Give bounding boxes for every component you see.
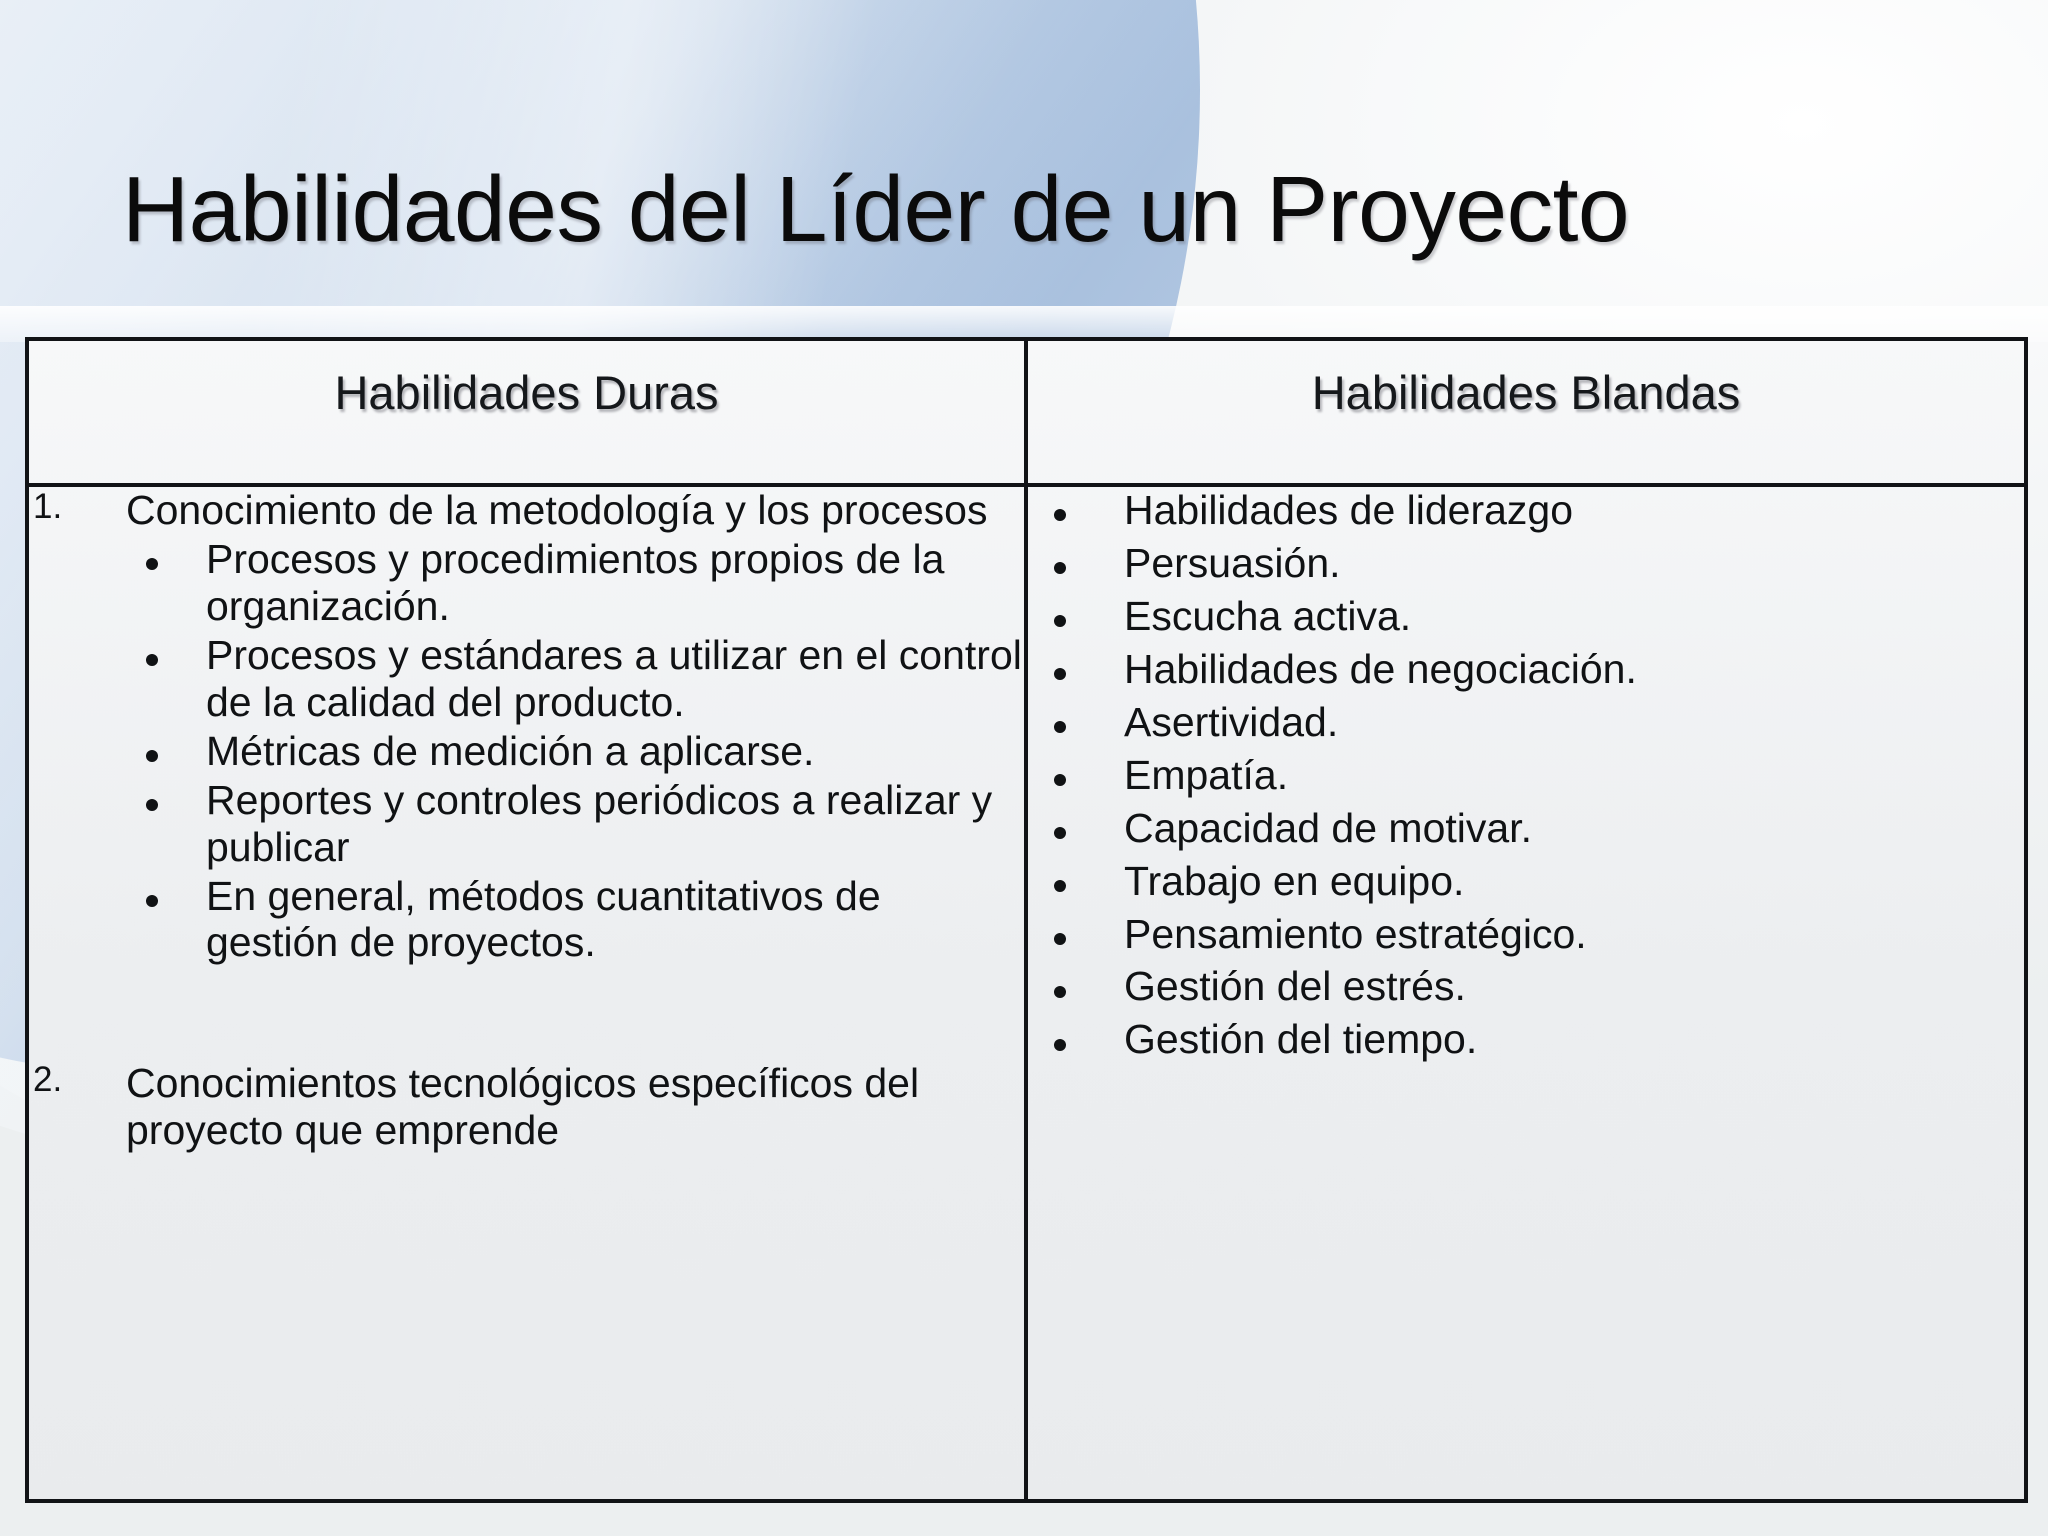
list-number: 2. <box>33 1060 103 1100</box>
list-item-label: Persuasión. <box>1124 540 1341 586</box>
list-spacer <box>29 966 1024 1060</box>
list-item: 2. Conocimientos tecnológicos específico… <box>29 1060 1024 1154</box>
list-item: Capacidad de motivar. <box>1040 805 2024 852</box>
list-item-label: Gestión del estrés. <box>1124 963 1466 1009</box>
list-item: 1. Conocimiento de la metodología y los … <box>29 487 1024 966</box>
header-cell-hard-skills: Habilidades Duras <box>27 339 1026 485</box>
list-number: 1. <box>33 487 103 527</box>
cell-soft-skills: Habilidades de liderazgo Persuasión. Esc… <box>1026 485 2026 1501</box>
list-item: En general, métodos cuantitativos de ges… <box>126 873 1024 967</box>
bullet-icon <box>146 654 158 666</box>
header-label-soft-skills: Habilidades Blandas <box>1028 341 2024 420</box>
cell-hard-skills: 1. Conocimiento de la metodología y los … <box>27 485 1026 1501</box>
bullet-icon <box>1054 827 1066 839</box>
list-item-label: Habilidades de liderazgo <box>1124 487 1573 533</box>
table-header-row: Habilidades Duras Habilidades Blandas <box>27 339 2026 485</box>
hard-skills-sublist: Procesos y procedimientos propios de la … <box>126 536 1024 966</box>
bullet-icon <box>1054 774 1066 786</box>
list-item-label: Habilidades de negociación. <box>1124 646 1637 692</box>
list-item: Habilidades de negociación. <box>1040 646 2024 693</box>
list-item: Procesos y procedimientos propios de la … <box>126 536 1024 630</box>
bullet-icon <box>1054 509 1066 521</box>
table-body-row: 1. Conocimiento de la metodología y los … <box>27 485 2026 1501</box>
list-item: Persuasión. <box>1040 540 2024 587</box>
list-item: Reportes y controles periódicos a realiz… <box>126 777 1024 871</box>
hard-skills-list: 1. Conocimiento de la metodología y los … <box>29 487 1024 1154</box>
list-item: Trabajo en equipo. <box>1040 858 2024 905</box>
list-item: Habilidades de liderazgo <box>1040 487 2024 534</box>
bullet-icon <box>1054 986 1066 998</box>
bullet-icon <box>1054 1039 1066 1051</box>
list-item: Gestión del tiempo. <box>1040 1016 2024 1063</box>
list-item-label: En general, métodos cuantitativos de ges… <box>206 873 881 966</box>
list-item-label: Métricas de medición a aplicarse. <box>206 728 814 774</box>
bullet-icon <box>1054 668 1066 680</box>
bullet-icon <box>1054 721 1066 733</box>
list-item-label: Asertividad. <box>1124 699 1338 745</box>
bullet-icon <box>146 558 158 570</box>
list-item-label: Capacidad de motivar. <box>1124 805 1532 851</box>
list-item: Métricas de medición a aplicarse. <box>126 728 1024 775</box>
page-title: Habilidades del Líder de un Proyecto <box>122 159 1922 259</box>
list-item-label: Pensamiento estratégico. <box>1124 911 1587 957</box>
list-item-label: Gestión del tiempo. <box>1124 1016 1477 1062</box>
list-item-label: Empatía. <box>1124 752 1288 798</box>
list-item-label: Conocimiento de la metodología y los pro… <box>126 487 987 533</box>
list-item-label: Escucha activa. <box>1124 593 1411 639</box>
bullet-icon <box>146 799 158 811</box>
list-item: Pensamiento estratégico. <box>1040 911 2024 958</box>
bullet-icon <box>1054 562 1066 574</box>
list-item: Asertividad. <box>1040 699 2024 746</box>
skills-table: Habilidades Duras Habilidades Blandas 1.… <box>25 337 2028 1503</box>
slide: Habilidades del Líder de un Proyecto Hab… <box>0 0 2048 1536</box>
list-item-label: Procesos y estándares a utilizar en el c… <box>206 632 1022 725</box>
list-item: Procesos y estándares a utilizar en el c… <box>126 632 1024 726</box>
bullet-icon <box>1054 615 1066 627</box>
bullet-icon <box>146 750 158 762</box>
list-item: Gestión del estrés. <box>1040 963 2024 1010</box>
bullet-icon <box>146 895 158 907</box>
list-item-label: Conocimientos tecnológicos específicos d… <box>126 1060 919 1153</box>
list-item-label: Procesos y procedimientos propios de la … <box>206 536 944 629</box>
bullet-icon <box>1054 933 1066 945</box>
list-item-label: Reportes y controles periódicos a realiz… <box>206 777 992 870</box>
header-label-hard-skills: Habilidades Duras <box>29 341 1024 420</box>
soft-skills-list: Habilidades de liderazgo Persuasión. Esc… <box>1028 487 2024 1063</box>
list-item-label: Trabajo en equipo. <box>1124 858 1464 904</box>
header-cell-soft-skills: Habilidades Blandas <box>1026 339 2026 485</box>
list-item: Escucha activa. <box>1040 593 2024 640</box>
bullet-icon <box>1054 880 1066 892</box>
list-item: Empatía. <box>1040 752 2024 799</box>
